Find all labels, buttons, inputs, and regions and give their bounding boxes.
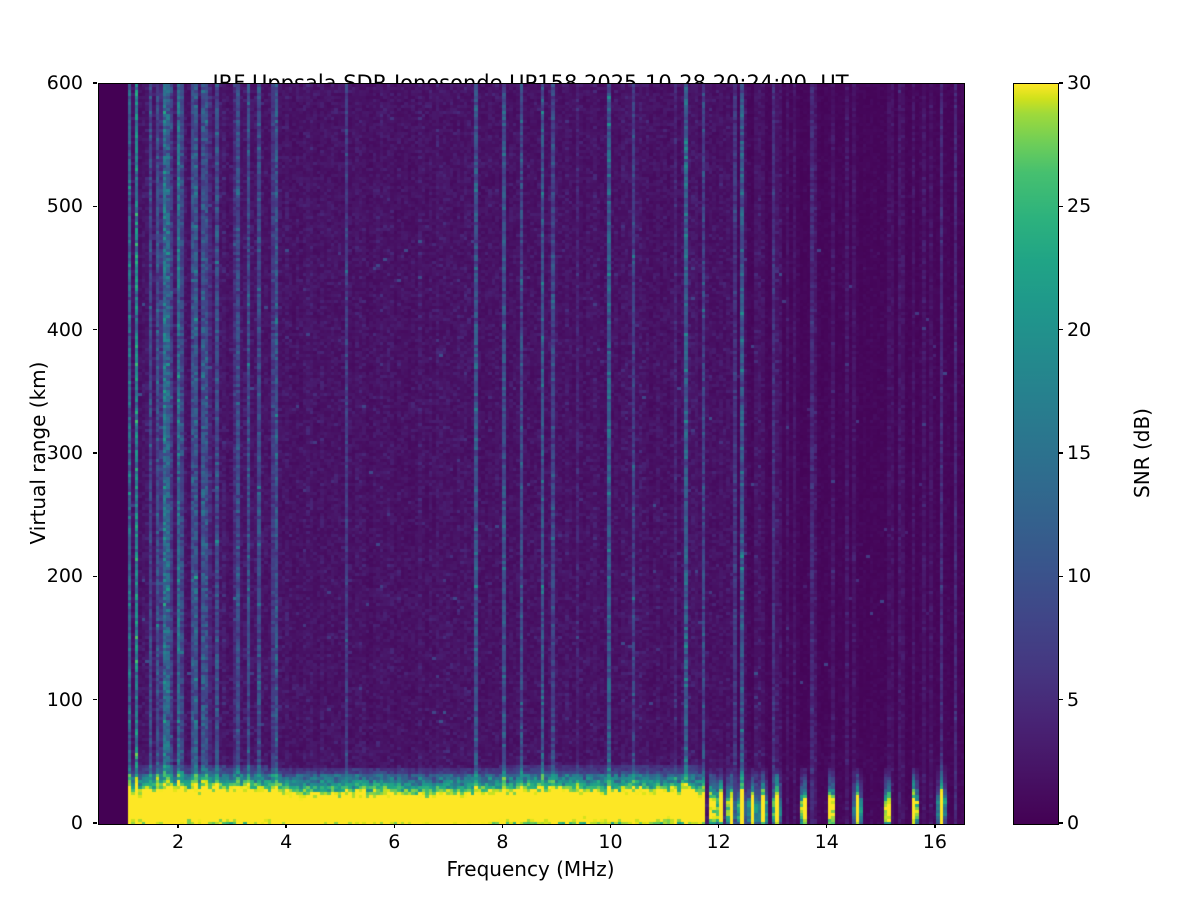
colorbar-tick-mark <box>1059 329 1063 330</box>
ionogram-heatmap <box>99 84 964 824</box>
x-tick-label: 2 <box>148 831 208 853</box>
x-tick-mark <box>394 824 395 828</box>
ionogram-axes <box>98 83 965 825</box>
ionogram-figure: IRF Uppsala SDR Ionosonde UP158 2025-10-… <box>0 0 1200 900</box>
colorbar-tick-mark <box>1059 576 1063 577</box>
y-tick-mark <box>93 206 97 207</box>
colorbar-tick-label: 15 <box>1067 442 1091 464</box>
colorbar-tick-mark <box>1059 206 1063 207</box>
colorbar-tick-mark <box>1059 452 1063 453</box>
colorbar-tick-label: 0 <box>1067 812 1079 834</box>
colorbar-tick-label: 5 <box>1067 689 1079 711</box>
x-tick-mark <box>177 824 178 828</box>
colorbar-tick-mark <box>1059 82 1063 83</box>
x-tick-label: 10 <box>581 831 641 853</box>
x-tick-label: 14 <box>797 831 857 853</box>
x-tick-mark <box>502 824 503 828</box>
x-tick-label: 8 <box>472 831 532 853</box>
x-tick-mark <box>610 824 611 828</box>
y-tick-mark <box>93 452 97 453</box>
x-tick-mark <box>826 824 827 828</box>
colorbar-tick-label: 20 <box>1067 319 1091 341</box>
x-tick-label: 12 <box>689 831 749 853</box>
y-tick-mark <box>93 329 97 330</box>
x-tick-mark <box>285 824 286 828</box>
x-tick-label: 16 <box>905 831 965 853</box>
y-tick-mark <box>93 699 97 700</box>
colorbar-tick-label: 30 <box>1067 72 1091 94</box>
colorbar-tick-mark <box>1059 699 1063 700</box>
y-tick-mark <box>93 822 97 823</box>
colorbar-tick-mark <box>1059 822 1063 823</box>
colorbar-tick-label: 25 <box>1067 195 1091 217</box>
colorbar-tick-label: 10 <box>1067 565 1091 587</box>
x-tick-label: 4 <box>256 831 316 853</box>
x-tick-mark <box>934 824 935 828</box>
colorbar <box>1013 83 1059 825</box>
x-axis-label: Frequency (MHz) <box>98 857 963 881</box>
y-tick-mark <box>93 576 97 577</box>
y-axis-label: Virtual range (km) <box>26 83 52 823</box>
y-tick-mark <box>93 82 97 83</box>
colorbar-label: SNR (dB) <box>1130 83 1156 823</box>
x-tick-label: 6 <box>364 831 424 853</box>
x-tick-mark <box>718 824 719 828</box>
